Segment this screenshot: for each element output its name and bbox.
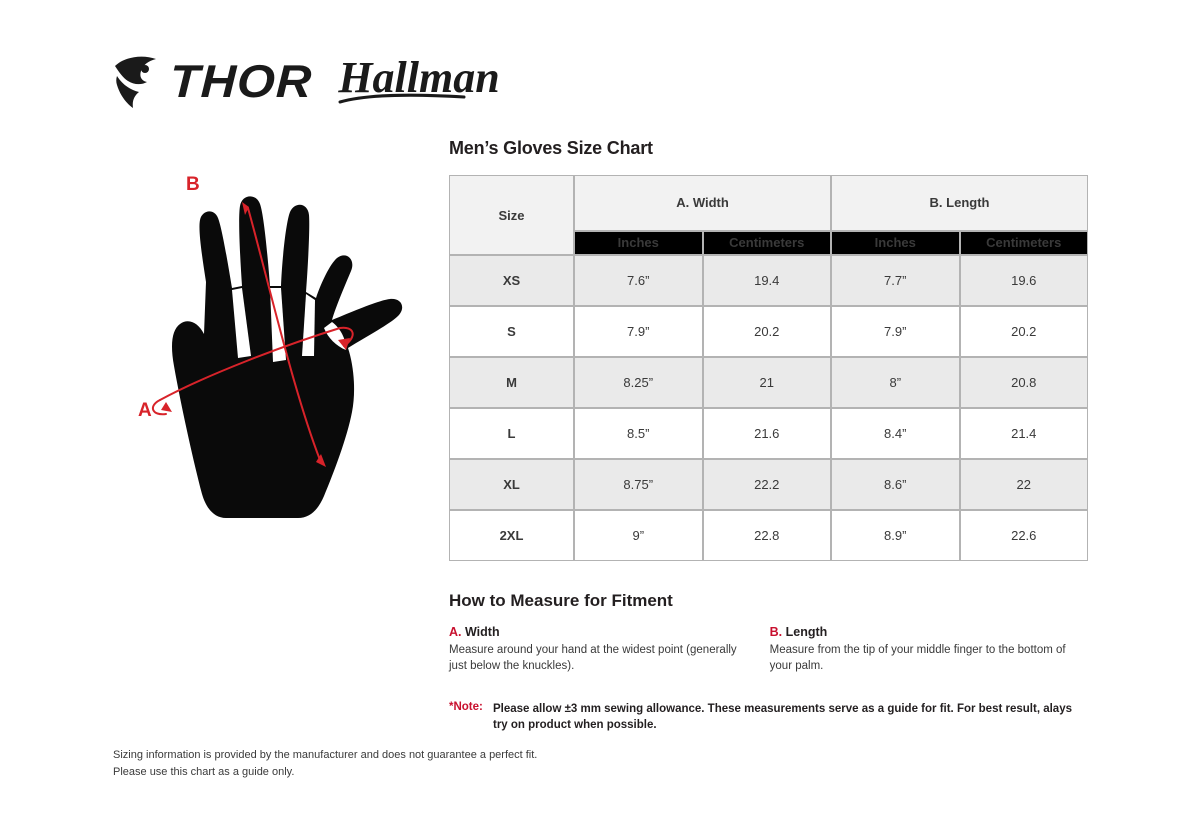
cell-width-cm: 22.8	[703, 510, 832, 561]
page-title: Men’s Gloves Size Chart	[449, 138, 1089, 159]
column-group-length: B. Length	[831, 175, 1088, 231]
measure-key-b: B.	[770, 625, 783, 639]
table-row: L 8.5” 21.6 8.4” 21.4	[449, 408, 1088, 459]
footer-line-2: Please use this chart as a guide only.	[113, 764, 537, 781]
diagram-label-b: B	[186, 174, 200, 195]
table-head: Size A. Width B. Length Inches Centimete…	[449, 175, 1088, 255]
table-group-header-row: Size A. Width B. Length	[449, 175, 1088, 231]
hand-measurement-diagram: B A	[118, 160, 438, 550]
cell-size: M	[449, 357, 574, 408]
measure-key-a: A.	[449, 625, 462, 639]
cell-length-in: 7.9”	[831, 306, 960, 357]
cell-length-in: 8”	[831, 357, 960, 408]
thor-helmet-icon	[112, 52, 168, 110]
cell-length-in: 8.9”	[831, 510, 960, 561]
measure-description-width: Measure around your hand at the widest p…	[449, 642, 742, 675]
measure-item-length: B. Length Measure from the tip of your m…	[770, 625, 1089, 675]
cell-width-cm: 20.2	[703, 306, 832, 357]
footer-line-1: Sizing information is provided by the ma…	[113, 747, 537, 764]
note-text: Please allow ±3 mm sewing allowance. The…	[493, 701, 1078, 734]
column-header-size: Size	[449, 175, 574, 255]
cell-length-cm: 22.6	[960, 510, 1089, 561]
table-row: XS 7.6” 19.4 7.7” 19.6	[449, 255, 1088, 306]
cell-size: L	[449, 408, 574, 459]
cell-length-cm: 20.8	[960, 357, 1089, 408]
cell-size: XL	[449, 459, 574, 510]
cell-width-in: 8.75”	[574, 459, 703, 510]
column-header-length-centimeters: Centimeters	[960, 231, 1089, 255]
cell-width-in: 8.5”	[574, 408, 703, 459]
cell-width-cm: 19.4	[703, 255, 832, 306]
diagram-label-a: A	[138, 400, 152, 421]
column-group-width: A. Width	[574, 175, 831, 231]
how-to-measure-columns: A. Width Measure around your hand at the…	[449, 625, 1089, 675]
cell-width-in: 7.6”	[574, 255, 703, 306]
thor-wordmark: THOR	[169, 58, 313, 104]
cell-length-cm: 22	[960, 459, 1089, 510]
cell-length-cm: 20.2	[960, 306, 1089, 357]
cell-length-in: 7.7”	[831, 255, 960, 306]
cell-width-in: 7.9”	[574, 306, 703, 357]
how-to-measure-heading: How to Measure for Fitment	[449, 591, 1089, 611]
table-row: XL 8.75” 22.2 8.6” 22	[449, 459, 1088, 510]
cell-width-cm: 22.2	[703, 459, 832, 510]
note-row: *Note: Please allow ±3 mm sewing allowan…	[449, 701, 1089, 734]
size-chart-table: Size A. Width B. Length Inches Centimete…	[449, 175, 1088, 561]
cell-size: 2XL	[449, 510, 574, 561]
measure-name-length: Length	[786, 625, 828, 639]
table-row: M 8.25” 21 8” 20.8	[449, 357, 1088, 408]
measure-description-length: Measure from the tip of your middle fing…	[770, 642, 1089, 675]
size-chart-panel: Men’s Gloves Size Chart Size A. Width B.…	[449, 138, 1089, 734]
cell-length-in: 8.4”	[831, 408, 960, 459]
measure-item-title: A. Width	[449, 625, 742, 639]
column-header-length-inches: Inches	[831, 231, 960, 255]
hallman-wordmark: Hallman	[338, 53, 499, 102]
cell-size: S	[449, 306, 574, 357]
cell-length-in: 8.6”	[831, 459, 960, 510]
how-to-measure-section: How to Measure for Fitment A. Width Meas…	[449, 591, 1089, 675]
measure-name-width: Width	[465, 625, 500, 639]
cell-width-in: 9”	[574, 510, 703, 561]
note-tag: *Note:	[449, 701, 493, 713]
cell-size: XS	[449, 255, 574, 306]
width-arrowhead-left	[161, 402, 172, 412]
thor-logo: THOR	[112, 52, 304, 110]
measure-item-title: B. Length	[770, 625, 1089, 639]
table-body: XS 7.6” 19.4 7.7” 19.6 S 7.9” 20.2 7.9” …	[449, 255, 1088, 561]
cell-width-in: 8.25”	[574, 357, 703, 408]
table-row: 2XL 9” 22.8 8.9” 22.6	[449, 510, 1088, 561]
cell-length-cm: 19.6	[960, 255, 1089, 306]
hallman-logo: Hallman	[338, 56, 499, 106]
table-row: S 7.9” 20.2 7.9” 20.2	[449, 306, 1088, 357]
cell-width-cm: 21	[703, 357, 832, 408]
brand-logo-bar: THOR Hallman	[112, 50, 500, 112]
footer-disclaimer: Sizing information is provided by the ma…	[113, 747, 537, 782]
column-header-width-inches: Inches	[574, 231, 703, 255]
cell-width-cm: 21.6	[703, 408, 832, 459]
measure-item-width: A. Width Measure around your hand at the…	[449, 625, 770, 675]
column-header-width-centimeters: Centimeters	[703, 231, 832, 255]
cell-length-cm: 21.4	[960, 408, 1089, 459]
